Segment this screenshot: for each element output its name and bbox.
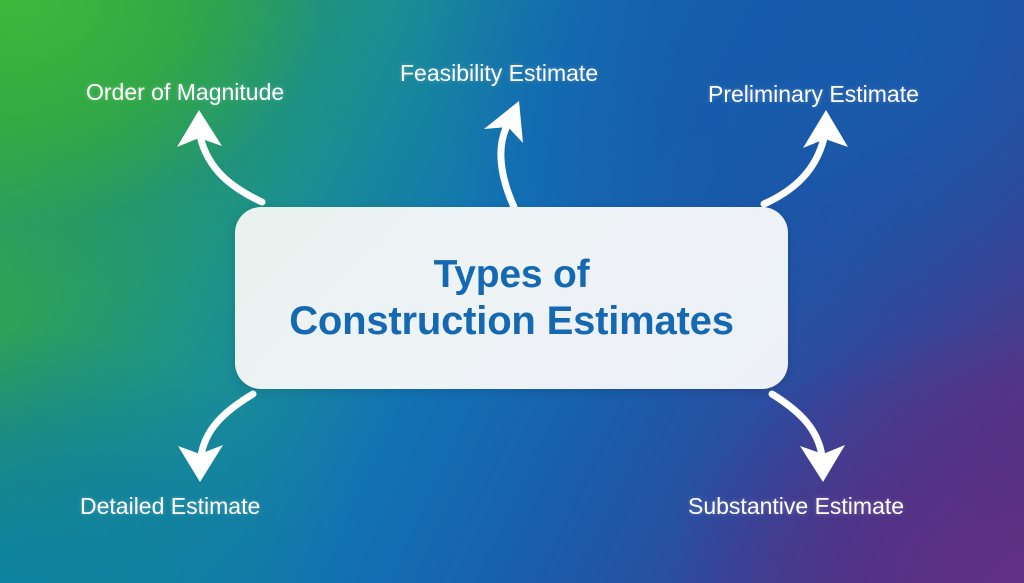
center-card-title-line-1: Types of bbox=[434, 251, 590, 298]
center-card: Types of Construction Estimates bbox=[235, 207, 788, 389]
node-label-feasibility-estimate: Feasibility Estimate bbox=[400, 59, 598, 87]
center-card-title-line-2: Construction Estimates bbox=[289, 298, 734, 345]
node-label-detailed-estimate: Detailed Estimate bbox=[80, 492, 260, 520]
node-label-order-of-magnitude: Order of Magnitude bbox=[86, 78, 284, 106]
node-label-preliminary-estimate: Preliminary Estimate bbox=[708, 80, 919, 108]
node-label-substantive-estimate: Substantive Estimate bbox=[688, 492, 904, 520]
diagram-canvas: Types of Construction Estimates Order of… bbox=[0, 0, 1024, 583]
